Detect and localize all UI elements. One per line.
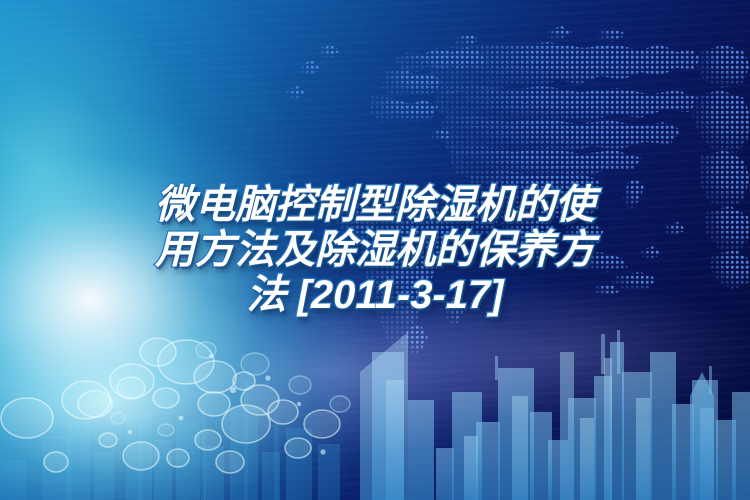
headline-block: 微电脑控制型除湿机的使 用方法及除湿机的保养方 法 [2011-3-17] — [0, 183, 750, 318]
headline-line-2: 用方法及除湿机的保养方 — [0, 228, 750, 273]
headline-line-1: 微电脑控制型除湿机的使 — [0, 183, 750, 228]
banner-image: 微电脑控制型除湿机的使 用方法及除湿机的保养方 法 [2011-3-17] — [0, 0, 750, 500]
headline-line-3: 法 [2011-3-17] — [0, 273, 750, 318]
